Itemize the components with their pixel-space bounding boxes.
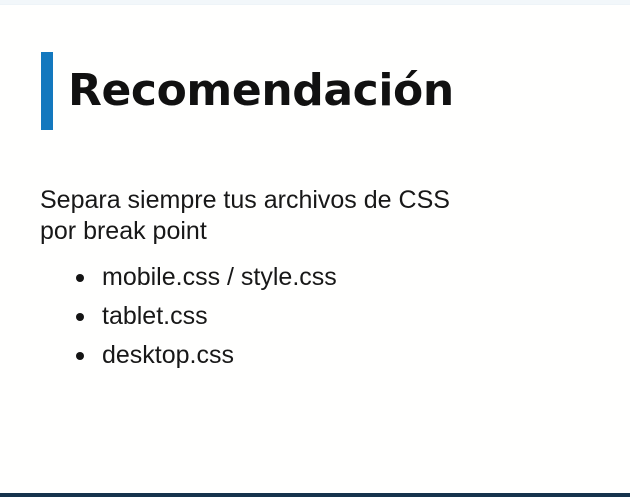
- bullet-dot-icon: [76, 352, 84, 360]
- bottom-edge-band: [0, 493, 630, 497]
- page-title: Recomendación: [68, 68, 454, 114]
- list-item-label: desktop.css: [102, 336, 234, 375]
- bullet-dot-icon: [76, 313, 84, 321]
- body-line-2: por break point: [40, 216, 560, 247]
- body-line-1: Separa siempre tus archivos de CSS: [40, 185, 560, 216]
- list-item: tablet.css: [40, 297, 560, 336]
- slide-canvas: Recomendación Separa siempre tus archivo…: [0, 0, 630, 497]
- bullet-list: mobile.css / style.css tablet.css deskto…: [40, 258, 560, 375]
- bullet-dot-icon: [76, 274, 84, 282]
- top-edge-band: [0, 0, 630, 5]
- list-item: mobile.css / style.css: [40, 258, 560, 297]
- list-item: desktop.css: [40, 336, 560, 375]
- list-item-label: mobile.css / style.css: [102, 258, 337, 297]
- accent-bar: [41, 52, 53, 130]
- body-paragraph: Separa siempre tus archivos de CSS por b…: [40, 185, 560, 247]
- list-item-label: tablet.css: [102, 297, 208, 336]
